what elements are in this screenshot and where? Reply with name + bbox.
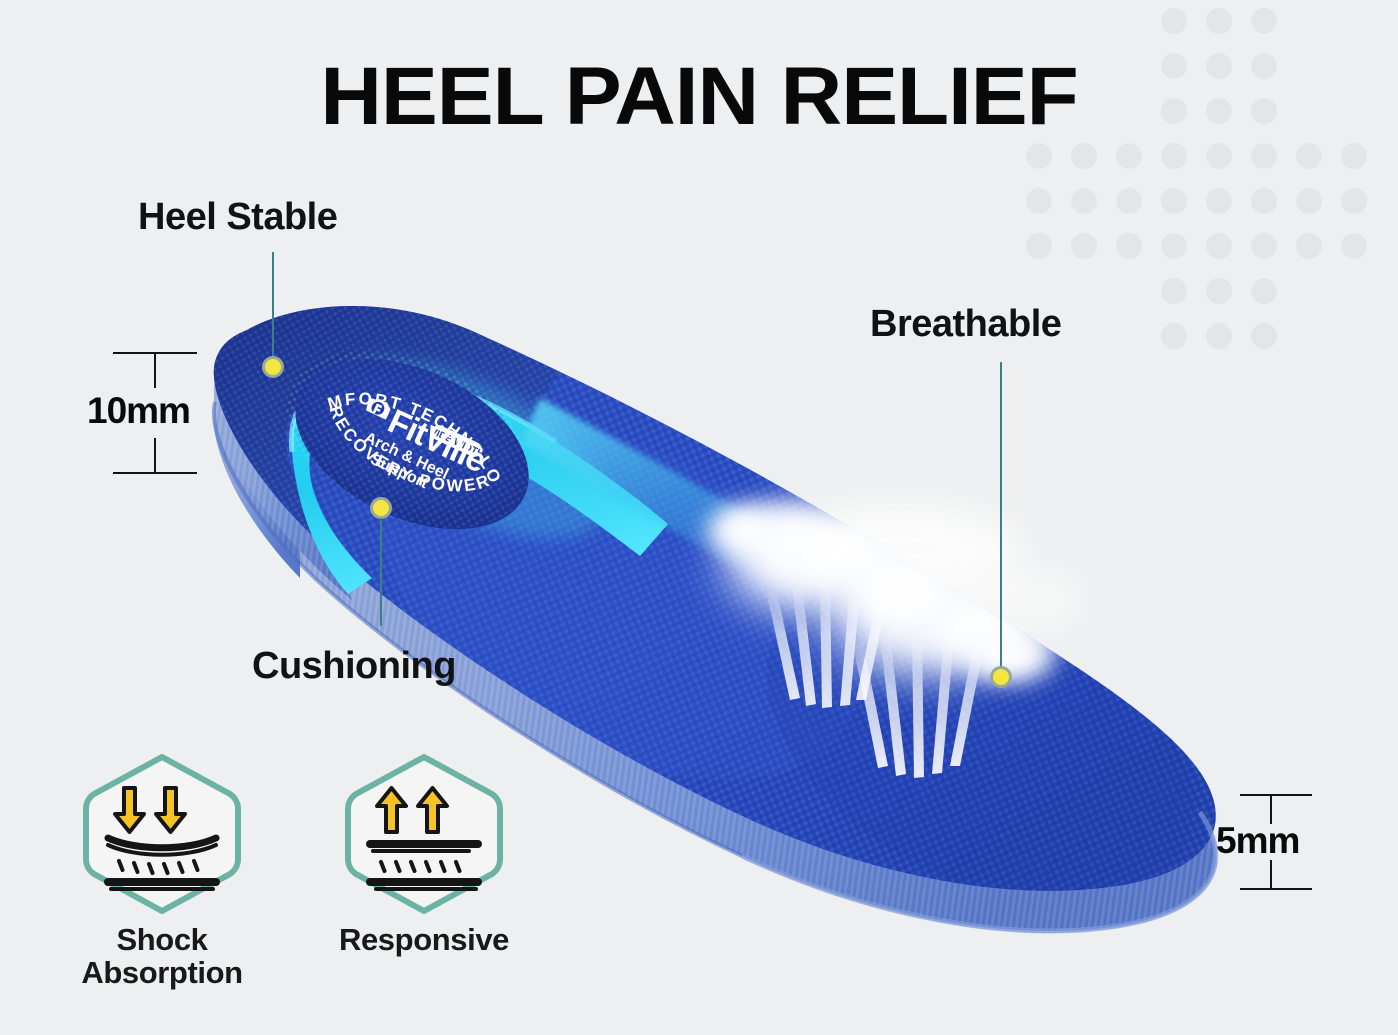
dimension-marker-heel: 10mm: [113, 352, 197, 474]
callout-label-heel-stable: Heel Stable: [138, 196, 337, 239]
feature-shock-absorption[interactable]: Shock Absorption: [78, 752, 246, 921]
dimension-stem-top: [154, 352, 156, 388]
dimension-cap-bottom: [1240, 888, 1312, 890]
dimension-cap-bottom: [113, 472, 197, 474]
dimension-stem-bottom: [154, 438, 156, 474]
dimension-value-heel: 10mm: [87, 390, 190, 432]
dimension-marker-forefoot: 5mm: [1240, 794, 1312, 890]
feature-caption-shock-absorption: Shock Absorption: [12, 924, 312, 990]
leader-line-breathable: [1000, 362, 1002, 667]
callout-label-breathable: Breathable: [870, 303, 1061, 346]
responsive-hexagon: [340, 752, 508, 916]
dimension-stem-bottom: [1270, 860, 1272, 890]
infographic-canvas: HEEL PAIN RELIEF: [0, 0, 1398, 1035]
marker-dot-cushioning[interactable]: [370, 497, 392, 519]
feature-responsive[interactable]: Responsive: [340, 752, 508, 921]
shock-absorption-hexagon: [78, 752, 246, 916]
dimension-cap-top: [1240, 794, 1312, 796]
marker-dot-breathable[interactable]: [990, 666, 1012, 688]
leader-line-heel-stable: [272, 252, 274, 358]
callout-label-cushioning: Cushioning: [252, 645, 456, 688]
feature-caption-responsive: Responsive: [274, 924, 574, 957]
leader-line-cushioning: [380, 518, 382, 626]
dimension-value-forefoot: 5mm: [1216, 820, 1299, 862]
marker-dot-heel-stable[interactable]: [262, 356, 284, 378]
